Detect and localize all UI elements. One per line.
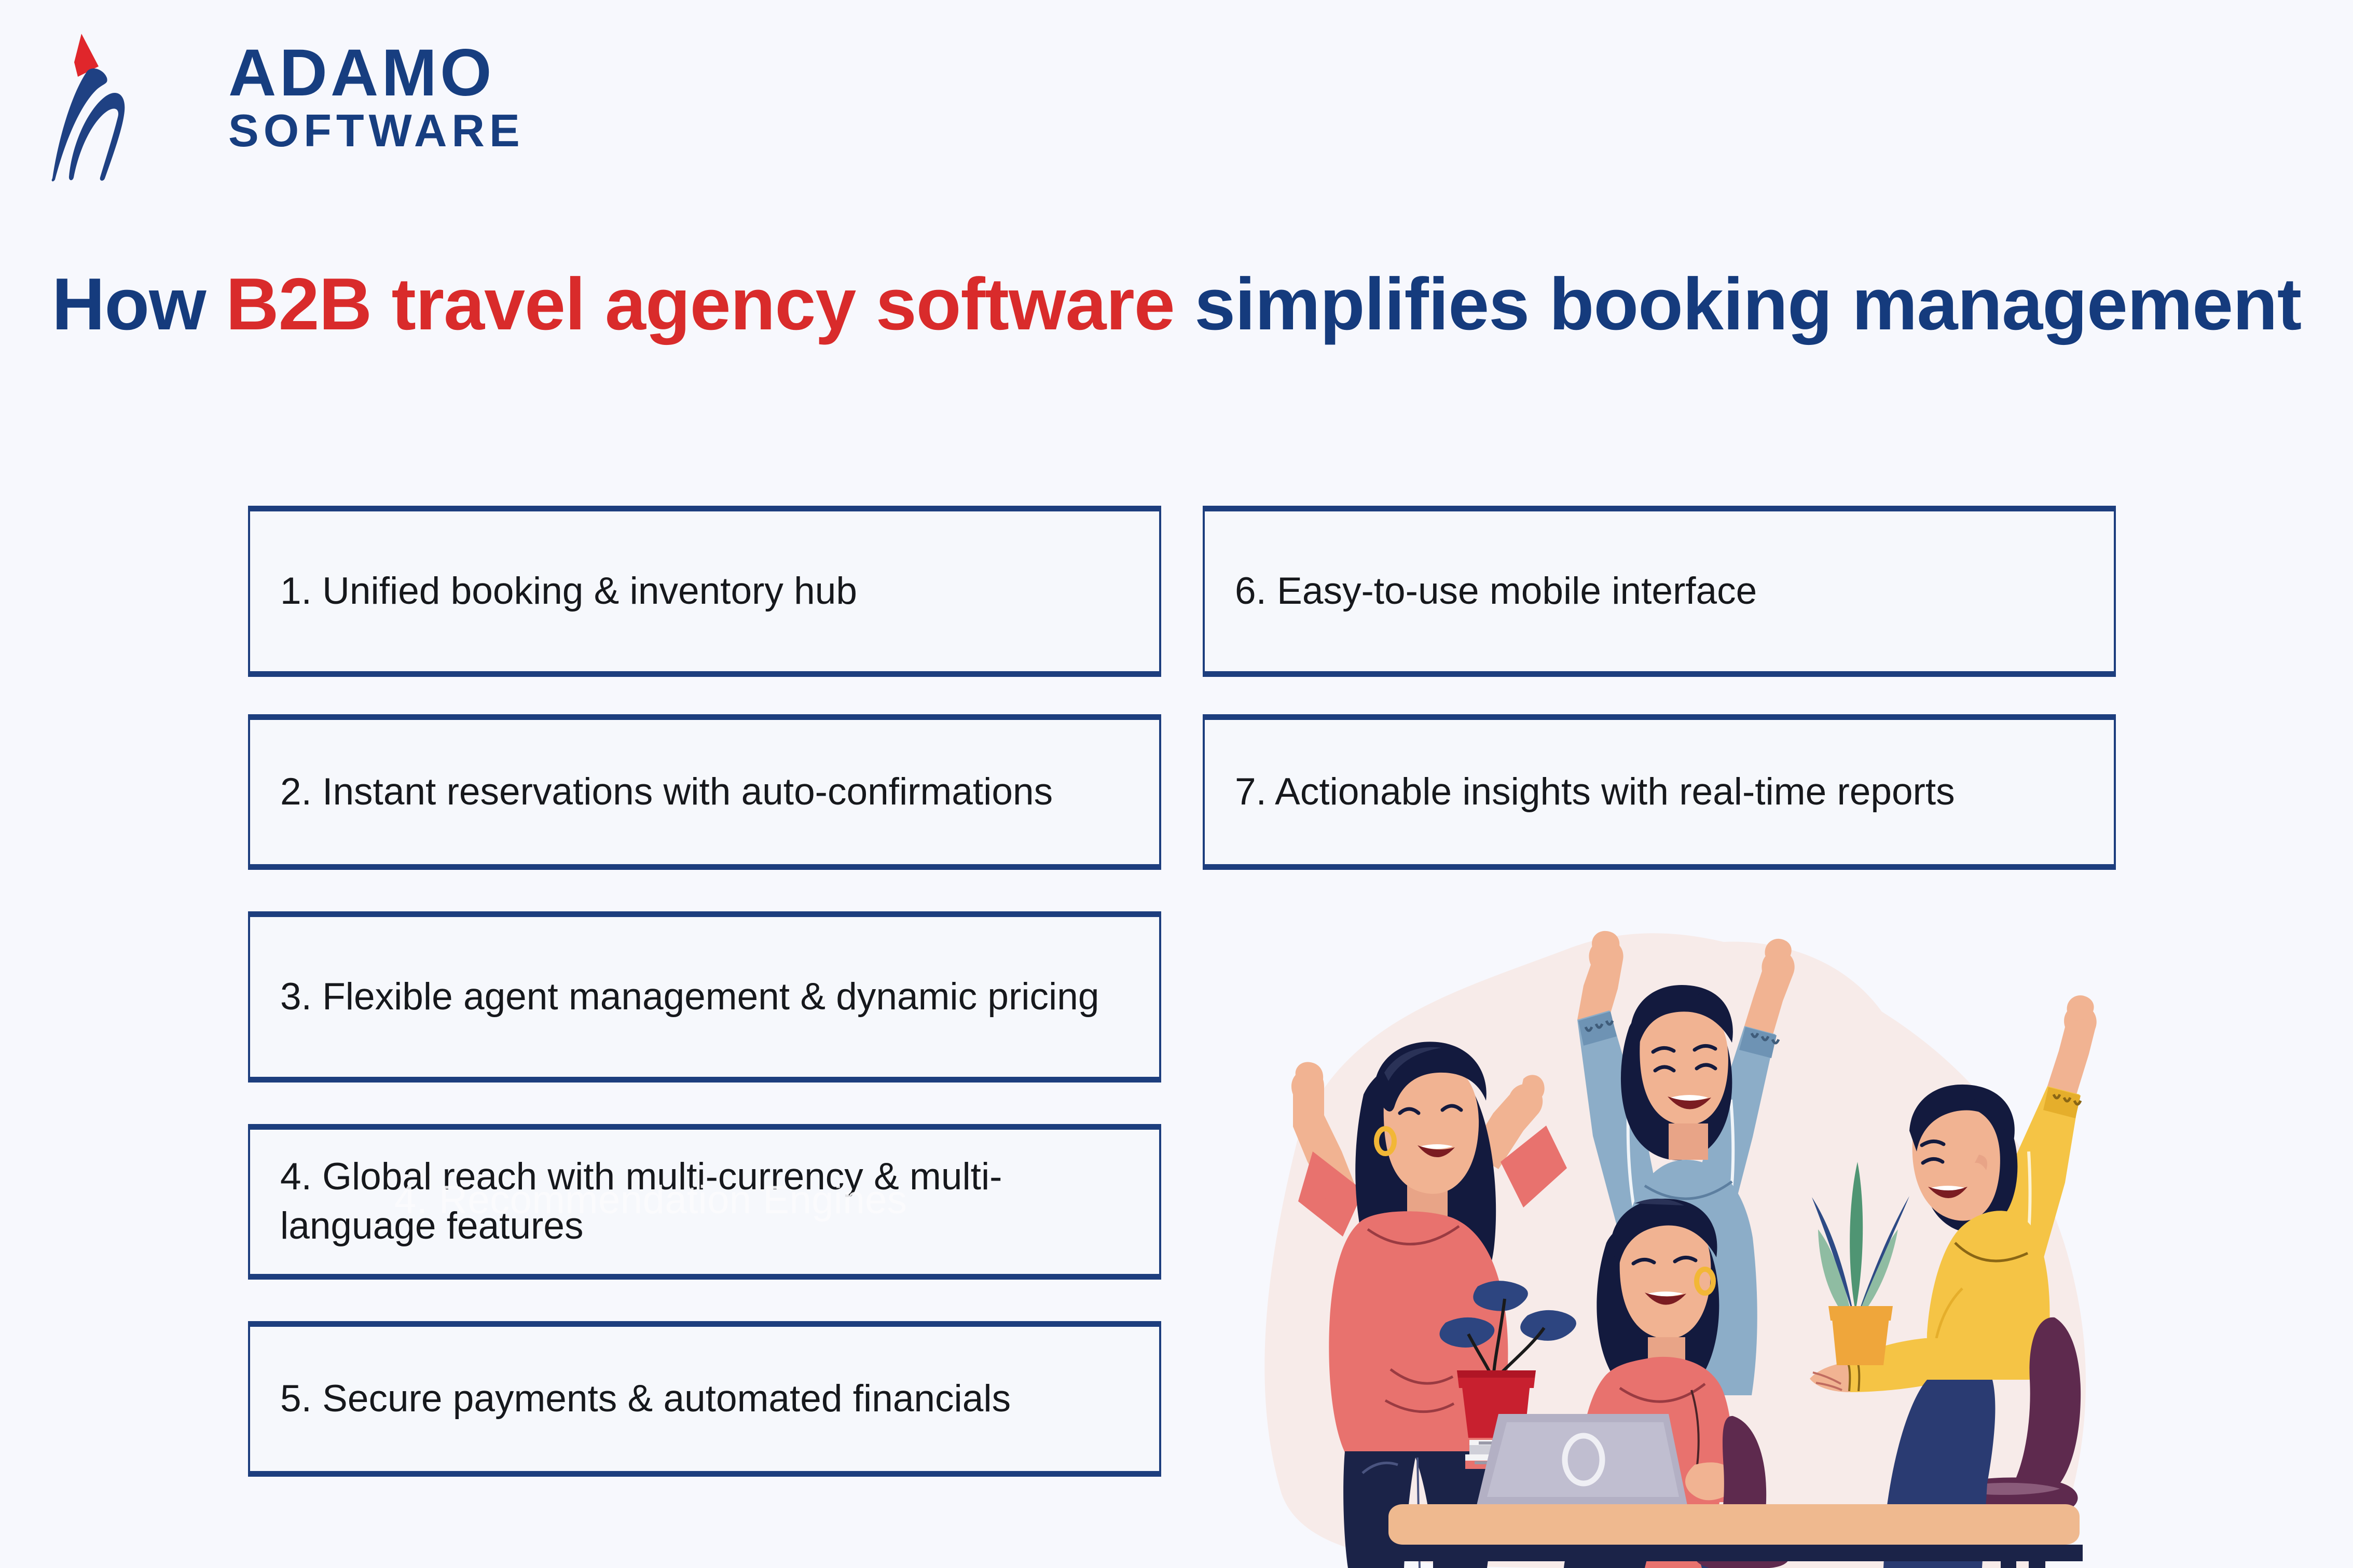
feature-box-6[interactable]: 6. Easy-to-use mobile interface — [1203, 506, 2116, 677]
feature-box-7[interactable]: 7. Actionable insights with real-time re… — [1203, 714, 2116, 870]
feature-label-4: 4. Global reach with multi-currency & mu… — [280, 1153, 1129, 1251]
feature-label-2: 2. Instant reservations with auto-confir… — [280, 768, 1053, 817]
title-suffix: simplifies booking management — [1175, 263, 2301, 345]
feature-list-right: 6. Easy-to-use mobile interface 7. Actio… — [1203, 506, 2116, 870]
feature-box-4[interactable]: 4. Global reach with multi-currency & mu… — [248, 1124, 1161, 1280]
feature-box-3[interactable]: 3. Flexible agent management & dynamic p… — [248, 911, 1161, 1083]
team-celebrating-at-desk-illustration — [1235, 871, 2148, 1568]
title-prefix: How — [52, 263, 226, 345]
feature-label-1: 1. Unified booking & inventory hub — [280, 567, 857, 616]
feature-label-7: 7. Actionable insights with real-time re… — [1235, 768, 1955, 817]
feature-box-5[interactable]: 5. Secure payments & automated financial… — [248, 1321, 1161, 1477]
adamo-logo[interactable]: ADAMO SOFTWARE — [49, 31, 537, 176]
logo-name-line1: ADAMO — [228, 43, 525, 104]
adamo-swoosh-logo-icon — [49, 31, 153, 182]
feature-box-1[interactable]: 1. Unified booking & inventory hub — [248, 506, 1161, 677]
feature-label-3: 3. Flexible agent management & dynamic p… — [280, 973, 1099, 1022]
feature-label-5: 5. Secure payments & automated financial… — [280, 1375, 1011, 1424]
infographic-page: ADAMO SOFTWARE How B2B travel agency sof… — [0, 0, 2353, 1568]
logo-name-line2: SOFTWARE — [228, 104, 525, 158]
title-highlight: B2B travel agency software — [226, 263, 1175, 345]
adamo-wordmark: ADAMO SOFTWARE — [228, 43, 525, 158]
feature-label-6: 6. Easy-to-use mobile interface — [1235, 567, 1757, 616]
feature-list-left: 1. Unified booking & inventory hub 2. In… — [248, 506, 1161, 1477]
feature-box-2[interactable]: 2. Instant reservations with auto-confir… — [248, 714, 1161, 870]
page-title: How B2B travel agency software simplifie… — [0, 257, 2353, 353]
